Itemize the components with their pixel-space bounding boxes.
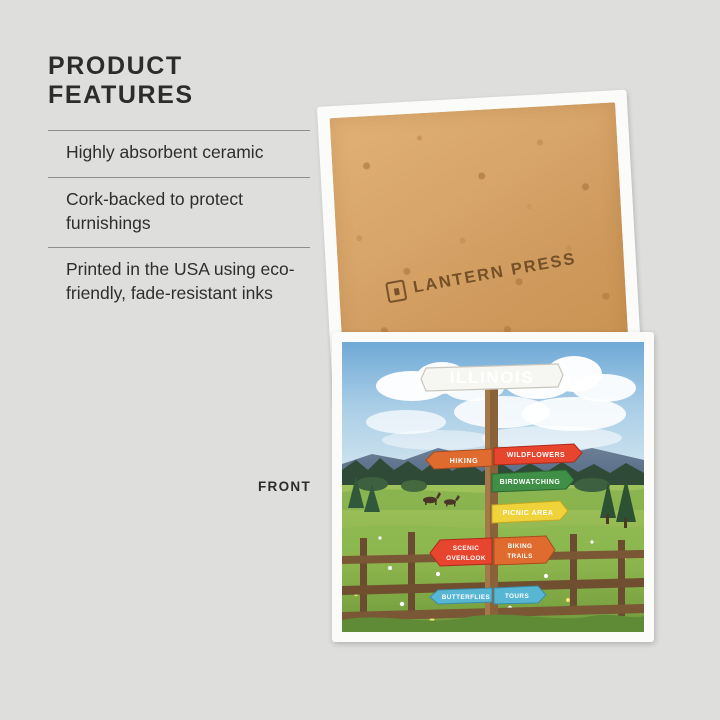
sign-biking-trails: BIKING TRAILS — [494, 536, 555, 565]
lantern-icon — [385, 279, 407, 303]
sign-label-5a: BIKING — [508, 543, 533, 550]
sign-label-5b: TRAILS — [507, 553, 533, 560]
coaster-artwork: ILLINOIS HIKING WILDFLOWERS BIRDWATCHING — [342, 342, 644, 632]
sign-label-4b: OVERLOOK — [446, 555, 486, 562]
feature-item: Printed in the USA using eco-friendly, f… — [48, 247, 310, 310]
product-listing-image: PRODUCT FEATURES Highly absorbent cerami… — [0, 0, 720, 720]
illustration: ILLINOIS HIKING WILDFLOWERS BIRDWATCHING — [342, 342, 644, 632]
sign-wildflowers: WILDFLOWERS — [494, 444, 582, 465]
label-front: FRONT — [258, 479, 311, 494]
product-features-panel: PRODUCT FEATURES Highly absorbent cerami… — [48, 52, 310, 310]
sign-tours: TOURS — [494, 586, 546, 604]
brand-name: LANTERN PRESS — [412, 249, 578, 297]
brand-stamp: LANTERN PRESS — [385, 248, 578, 303]
sign-label-6: BUTTERFLIES — [442, 594, 491, 601]
coaster-front: ILLINOIS HIKING WILDFLOWERS BIRDWATCHING — [332, 332, 654, 642]
feature-item: Cork-backed to protect furnishings — [48, 177, 310, 248]
sign-picnic-area: PICNIC AREA — [492, 501, 568, 523]
sign-hiking: HIKING — [426, 449, 492, 469]
sign-label-3: PICNIC AREA — [503, 510, 554, 517]
sign-label-1: WILDFLOWERS — [507, 452, 565, 459]
sign-label-0: HIKING — [450, 456, 479, 465]
sign-butterflies: BUTTERFLIES — [430, 588, 492, 604]
sign-label-4a: SCENIC — [453, 545, 480, 552]
page-title: PRODUCT FEATURES — [48, 52, 310, 110]
sign-label-7: TOURS — [505, 593, 530, 600]
sign-title: ILLINOIS — [421, 364, 563, 391]
sign-birdwatching: BIRDWATCHING — [492, 470, 574, 492]
feature-item: Highly absorbent ceramic — [48, 130, 310, 177]
sign-label-title: ILLINOIS — [450, 368, 535, 387]
sign-scenic-overlook: SCENIC OVERLOOK — [430, 538, 492, 566]
sign-label-2: BIRDWATCHING — [500, 479, 561, 486]
